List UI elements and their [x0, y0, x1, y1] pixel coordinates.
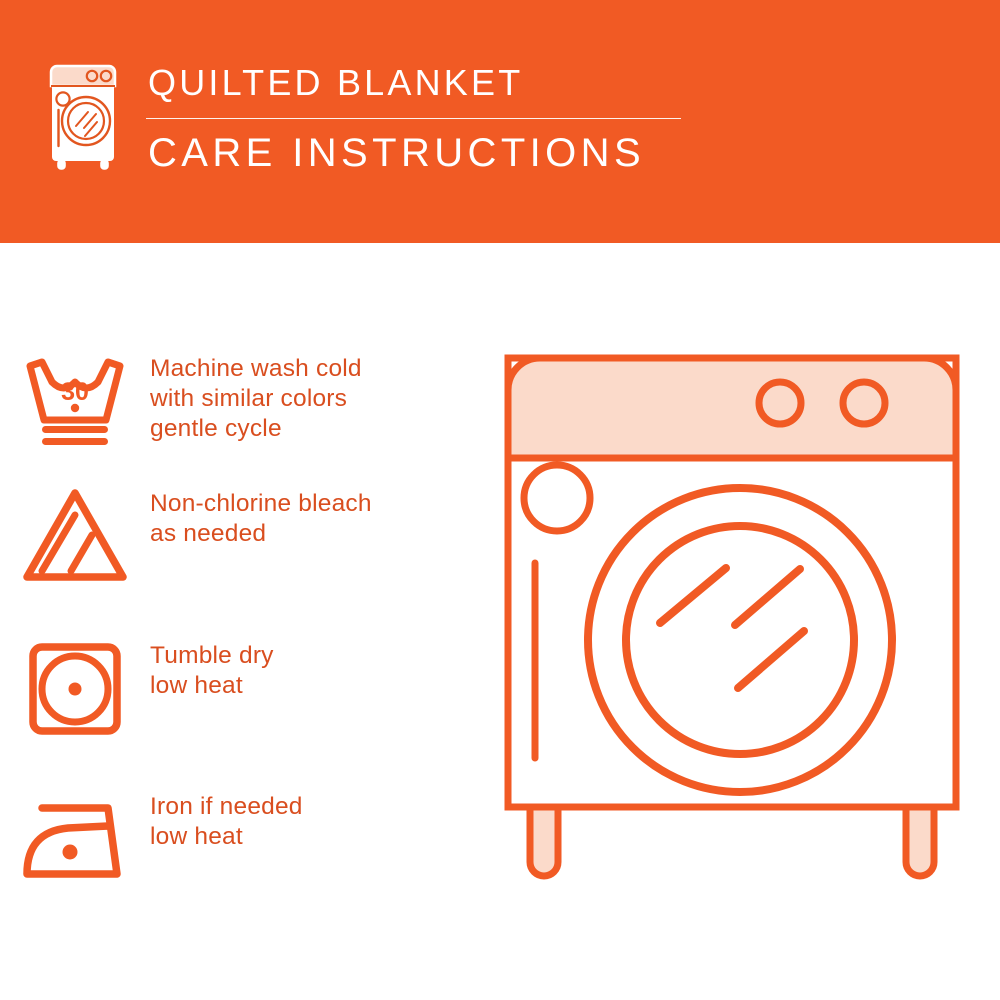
care-item-machine-wash: 30 Machine wash cold with similar colors…	[0, 348, 480, 450]
care-item-text: Non-chlorine bleach as needed	[150, 483, 372, 549]
iron-low-heat-icon	[0, 786, 150, 888]
washing-machine-icon	[44, 60, 122, 172]
machine-door-inner	[626, 526, 854, 754]
machine-leg-right	[906, 807, 934, 876]
care-instructions-list: 30 Machine wash cold with similar colors…	[0, 243, 480, 1000]
front-load-washing-machine-illustration	[482, 318, 982, 943]
title-divider	[146, 118, 681, 119]
care-text-line: low heat	[150, 671, 274, 701]
care-instructions-infographic: QUILTED BLANKET CARE INSTRUCTIONS 30 Mac…	[0, 0, 1000, 1000]
page-title: QUILTED BLANKET	[144, 60, 681, 106]
wash-tub-30-gentle-icon: 30	[0, 348, 150, 450]
machine-dial	[524, 465, 590, 531]
care-text-line: with similar colors	[150, 384, 362, 414]
page-subtitle: CARE INSTRUCTIONS	[144, 129, 681, 177]
care-item-iron: Iron if needed low heat	[0, 786, 480, 888]
machine-leg-left	[530, 807, 558, 876]
machine-knob-left	[759, 382, 801, 424]
care-text-line: Non-chlorine bleach	[150, 489, 372, 519]
care-text-line: Machine wash cold	[150, 354, 362, 384]
header-banner: QUILTED BLANKET CARE INSTRUCTIONS	[0, 0, 1000, 243]
tumble-dry-low-heat-icon	[0, 635, 150, 737]
care-item-bleach: Non-chlorine bleach as needed	[0, 483, 480, 585]
header-titles: QUILTED BLANKET CARE INSTRUCTIONS	[144, 60, 681, 177]
care-item-tumble-dry: Tumble dry low heat	[0, 635, 480, 737]
wash-temperature-label: 30	[61, 378, 89, 406]
care-item-text: Machine wash cold with similar colors ge…	[150, 348, 362, 444]
bleach-triangle-non-chlorine-icon	[0, 483, 150, 585]
care-text-line: low heat	[150, 822, 303, 852]
machine-knob-right	[843, 382, 885, 424]
care-text-line: Tumble dry	[150, 641, 274, 671]
care-text-line: gentle cycle	[150, 414, 362, 444]
care-text-line: as needed	[150, 519, 372, 549]
header-content: QUILTED BLANKET CARE INSTRUCTIONS	[44, 60, 681, 177]
care-item-text: Tumble dry low heat	[150, 635, 274, 701]
care-text-line: Iron if needed	[150, 792, 303, 822]
care-item-text: Iron if needed low heat	[150, 786, 303, 852]
